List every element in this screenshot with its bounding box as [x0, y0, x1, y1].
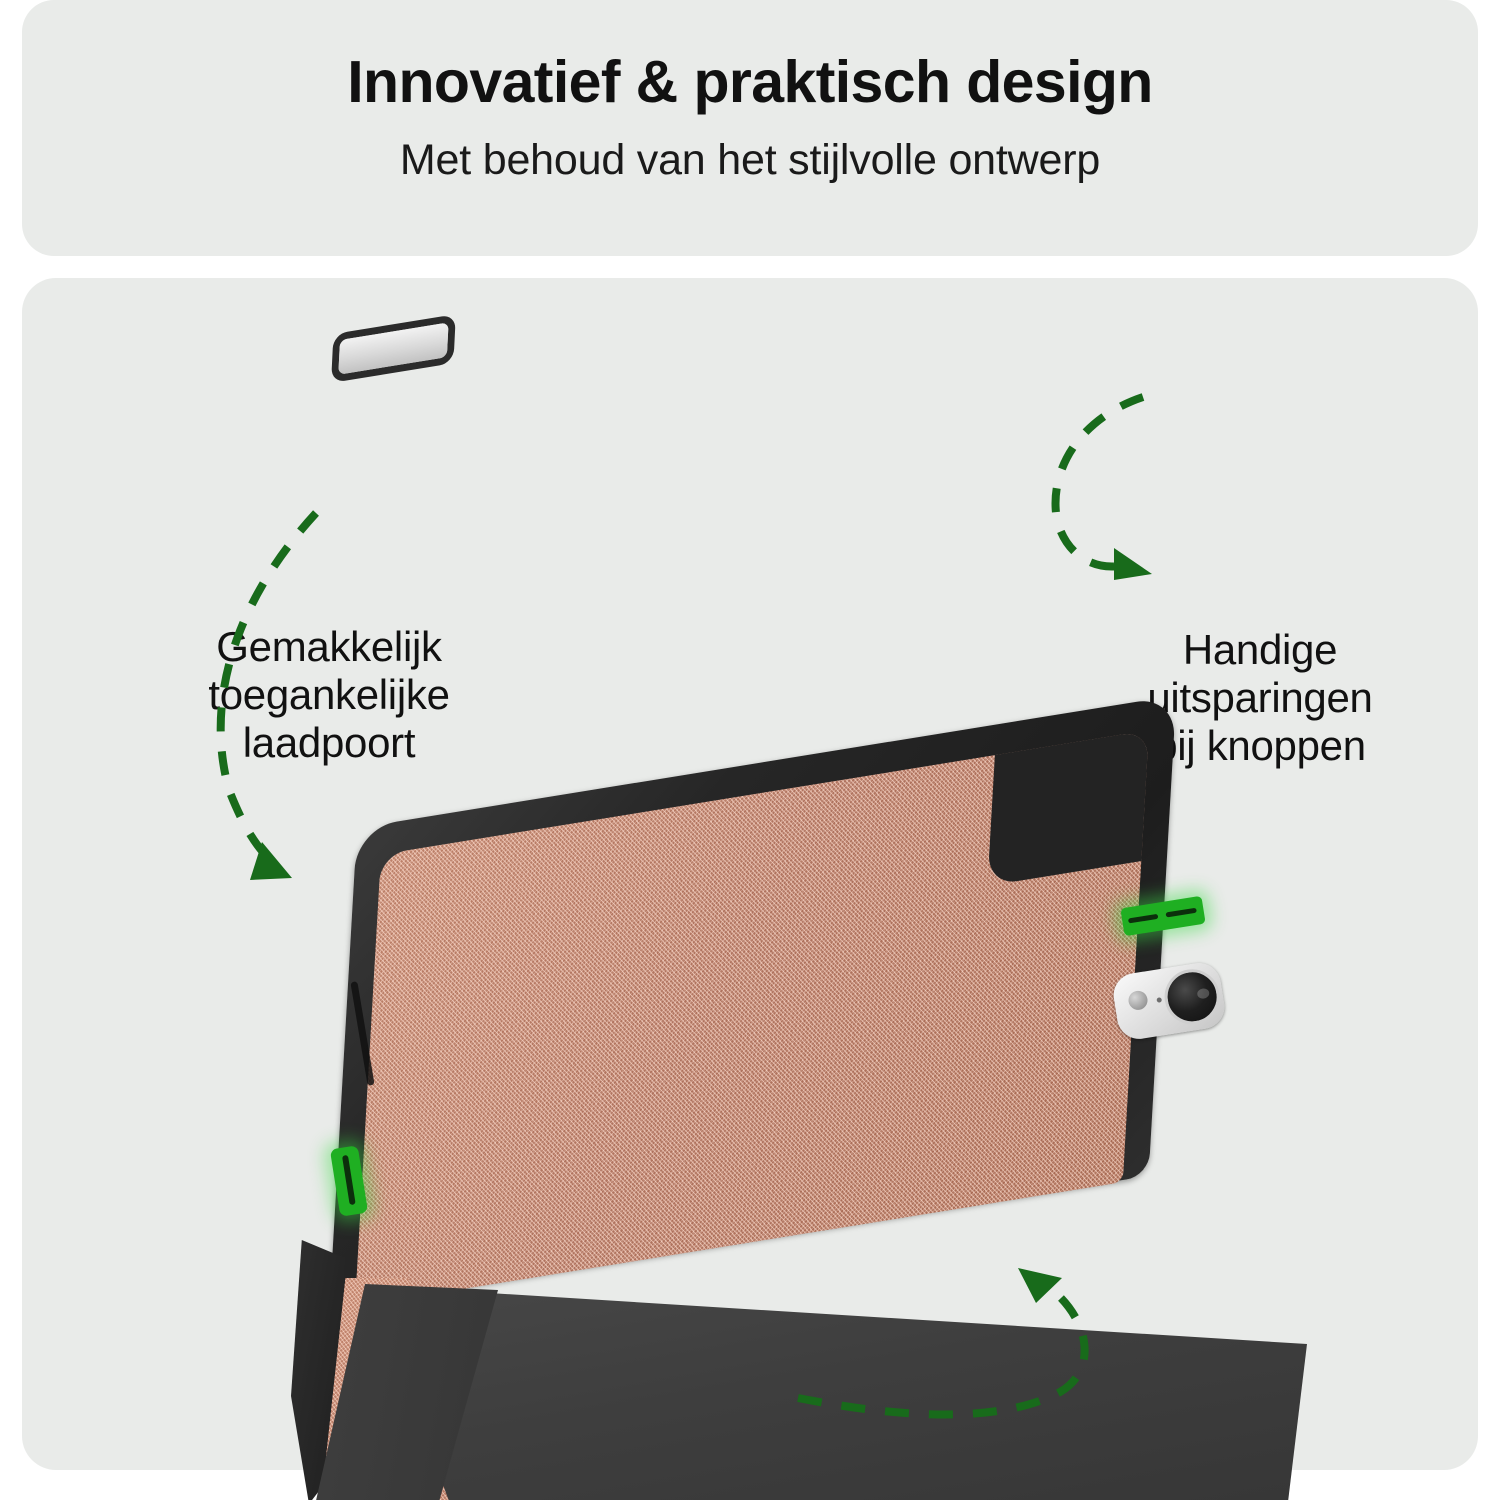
folding-kickstand: [307, 1278, 1307, 1500]
infographic-page: Innovatief & praktisch design Met behoud…: [0, 0, 1500, 1500]
feature-card: Gemakkelijk toegankelijke laadpoort Hand…: [22, 278, 1478, 1470]
camera-flash: [1127, 989, 1149, 1011]
button-slot-left: [1128, 914, 1158, 924]
header-card: Innovatief & praktisch design Met behoud…: [22, 0, 1478, 256]
lens-glint: [1197, 988, 1210, 1000]
page-subtitle: Met behoud van het stijlvolle ontwerp: [22, 136, 1478, 185]
callout-label-charging-port: Gemakkelijk toegankelijke laadpoort: [114, 623, 544, 767]
silver-pencil-holder-clip: [338, 322, 448, 374]
microphone-pinhole: [1156, 997, 1162, 1003]
page-title: Innovatief & praktisch design: [22, 52, 1478, 114]
button-slot-right: [1165, 908, 1196, 918]
tablet-case-body: [329, 695, 1176, 1308]
charging-port-slot: [342, 1155, 356, 1205]
camera-lens: [1161, 965, 1224, 1028]
camera-notch: [987, 730, 1149, 886]
